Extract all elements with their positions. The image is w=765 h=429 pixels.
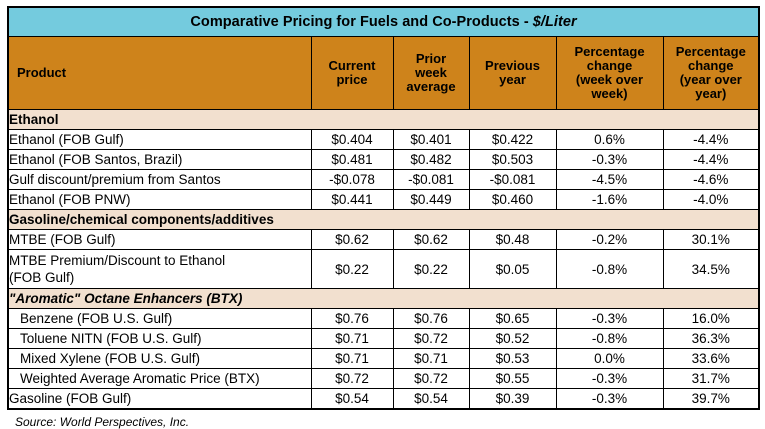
column-header-prior-week-line1: Prior [394, 52, 469, 66]
table-title-main: Comparative Pricing for Fuels and Co-Pro… [190, 14, 532, 30]
table-row: Ethanol (FOB Santos, Brazil) $0.481 $0.4… [8, 150, 759, 170]
pct-change-week: -0.8% [556, 329, 663, 349]
table-title: Comparative Pricing for Fuels and Co-Pro… [8, 7, 759, 37]
previous-year: $0.39 [469, 389, 556, 410]
pct-change-year: 33.6% [663, 349, 759, 369]
table-row: Gasoline (FOB Gulf) $0.54 $0.54 $0.39 -0… [8, 389, 759, 410]
column-header-current-price: Current price [311, 37, 393, 110]
pct-change-year: -4.6% [663, 170, 759, 190]
product-name: Toluene NITN (FOB U.S. Gulf) [8, 329, 311, 349]
table-row: Ethanol (FOB Gulf) $0.404 $0.401 $0.422 … [8, 130, 759, 150]
table-header-row: Product Current price Prior week average… [8, 37, 759, 110]
current-price: $0.62 [311, 230, 393, 250]
pct-change-year: -4.4% [663, 150, 759, 170]
table-row: Benzene (FOB U.S. Gulf) $0.76 $0.76 $0.6… [8, 309, 759, 329]
column-header-pct-week-line4: week) [557, 87, 663, 101]
pct-change-year: -4.4% [663, 130, 759, 150]
prior-week-average: $0.71 [393, 349, 469, 369]
pct-change-year: 16.0% [663, 309, 759, 329]
column-header-prior-week-line2: week [394, 66, 469, 80]
previous-year: $0.05 [469, 250, 556, 289]
column-header-current-price-line2: price [312, 73, 393, 87]
prior-week-average: $0.22 [393, 250, 469, 289]
table-row: Toluene NITN (FOB U.S. Gulf) $0.71 $0.72… [8, 329, 759, 349]
comparative-pricing-table: Comparative Pricing for Fuels and Co-Pro… [7, 6, 760, 410]
pct-change-year: 30.1% [663, 230, 759, 250]
pct-change-year: 34.5% [663, 250, 759, 289]
source-note: Source: World Perspectives, Inc. [7, 410, 758, 429]
prior-week-average: $0.72 [393, 329, 469, 349]
column-header-product: Product [8, 37, 311, 110]
current-price: $0.72 [311, 369, 393, 389]
column-header-pct-change-year: Percentage change (year over year) [663, 37, 759, 110]
previous-year: $0.460 [469, 190, 556, 210]
prior-week-average: $0.54 [393, 389, 469, 410]
current-price: -$0.078 [311, 170, 393, 190]
pct-change-week: -0.2% [556, 230, 663, 250]
section-heading-gasoline-chemical: Gasoline/chemical components/additives [8, 210, 759, 230]
pct-change-week: -4.5% [556, 170, 663, 190]
prior-week-average: $0.482 [393, 150, 469, 170]
previous-year: $0.65 [469, 309, 556, 329]
column-header-pct-year-line1: Percentage [664, 45, 759, 59]
previous-year: $0.55 [469, 369, 556, 389]
column-header-pct-change-week: Percentage change (week over week) [556, 37, 663, 110]
previous-year: $0.48 [469, 230, 556, 250]
table-title-row: Comparative Pricing for Fuels and Co-Pro… [8, 7, 759, 37]
current-price: $0.54 [311, 389, 393, 410]
prior-week-average: -$0.081 [393, 170, 469, 190]
product-name: MTBE Premium/Discount to Ethanol (FOB Gu… [8, 250, 311, 289]
previous-year: $0.503 [469, 150, 556, 170]
pct-change-week: -0.3% [556, 369, 663, 389]
column-header-pct-week-line2: change [557, 59, 663, 73]
pct-change-year: 36.3% [663, 329, 759, 349]
previous-year: $0.422 [469, 130, 556, 150]
pct-change-week: -0.8% [556, 250, 663, 289]
column-header-pct-week-line3: (week over [557, 73, 663, 87]
product-name: Benzene (FOB U.S. Gulf) [8, 309, 311, 329]
section-heading-row: Ethanol [8, 110, 759, 130]
current-price: $0.71 [311, 349, 393, 369]
column-header-current-price-line1: Current [312, 59, 393, 73]
current-price: $0.71 [311, 329, 393, 349]
pct-change-week: -0.3% [556, 150, 663, 170]
column-header-prior-week-average: Prior week average [393, 37, 469, 110]
current-price: $0.22 [311, 250, 393, 289]
pct-change-week: -0.3% [556, 389, 663, 410]
pct-change-year: 31.7% [663, 369, 759, 389]
section-heading-ethanol: Ethanol [8, 110, 759, 130]
column-header-prior-week-line3: average [394, 80, 469, 94]
section-heading-aromatic-btx: "Aromatic" Octane Enhancers (BTX) [8, 289, 759, 309]
product-name: Gasoline (FOB Gulf) [8, 389, 311, 410]
product-name: MTBE (FOB Gulf) [8, 230, 311, 250]
table-row: Ethanol (FOB PNW) $0.441 $0.449 $0.460 -… [8, 190, 759, 210]
table-row: MTBE (FOB Gulf) $0.62 $0.62 $0.48 -0.2% … [8, 230, 759, 250]
column-header-previous-year-line2: year [470, 73, 556, 87]
table-row: Mixed Xylene (FOB U.S. Gulf) $0.71 $0.71… [8, 349, 759, 369]
table-title-units: $/Liter [533, 14, 577, 30]
current-price: $0.76 [311, 309, 393, 329]
prior-week-average: $0.72 [393, 369, 469, 389]
pct-change-year: 39.7% [663, 389, 759, 410]
column-header-pct-year-line2: change [664, 59, 759, 73]
column-header-previous-year: Previous year [469, 37, 556, 110]
product-name: Gulf discount/premium from Santos [8, 170, 311, 190]
pct-change-year: -4.0% [663, 190, 759, 210]
previous-year: -$0.081 [469, 170, 556, 190]
column-header-pct-week-line1: Percentage [557, 45, 663, 59]
product-name-line1: MTBE Premium/Discount to Ethanol [9, 252, 311, 269]
product-name: Mixed Xylene (FOB U.S. Gulf) [8, 349, 311, 369]
prior-week-average: $0.76 [393, 309, 469, 329]
prior-week-average: $0.62 [393, 230, 469, 250]
table-row: MTBE Premium/Discount to Ethanol (FOB Gu… [8, 250, 759, 289]
column-header-pct-year-line3: (year over [664, 73, 759, 87]
pct-change-week: -0.3% [556, 309, 663, 329]
previous-year: $0.52 [469, 329, 556, 349]
prior-week-average: $0.449 [393, 190, 469, 210]
section-heading-row: "Aromatic" Octane Enhancers (BTX) [8, 289, 759, 309]
current-price: $0.481 [311, 150, 393, 170]
current-price: $0.441 [311, 190, 393, 210]
product-name: Weighted Average Aromatic Price (BTX) [8, 369, 311, 389]
pct-change-week: -1.6% [556, 190, 663, 210]
product-name: Ethanol (FOB Santos, Brazil) [8, 150, 311, 170]
table-row: Weighted Average Aromatic Price (BTX) $0… [8, 369, 759, 389]
column-header-previous-year-line1: Previous [470, 59, 556, 73]
pct-change-week: 0.6% [556, 130, 663, 150]
table-row: Gulf discount/premium from Santos -$0.07… [8, 170, 759, 190]
pct-change-week: 0.0% [556, 349, 663, 369]
product-name-line2: (FOB Gulf) [9, 269, 311, 286]
previous-year: $0.53 [469, 349, 556, 369]
prior-week-average: $0.401 [393, 130, 469, 150]
column-header-pct-year-line4: year) [664, 87, 759, 101]
current-price: $0.404 [311, 130, 393, 150]
pricing-table-sheet: Comparative Pricing for Fuels and Co-Pro… [0, 0, 765, 415]
product-name: Ethanol (FOB PNW) [8, 190, 311, 210]
product-name: Ethanol (FOB Gulf) [8, 130, 311, 150]
section-heading-row: Gasoline/chemical components/additives [8, 210, 759, 230]
